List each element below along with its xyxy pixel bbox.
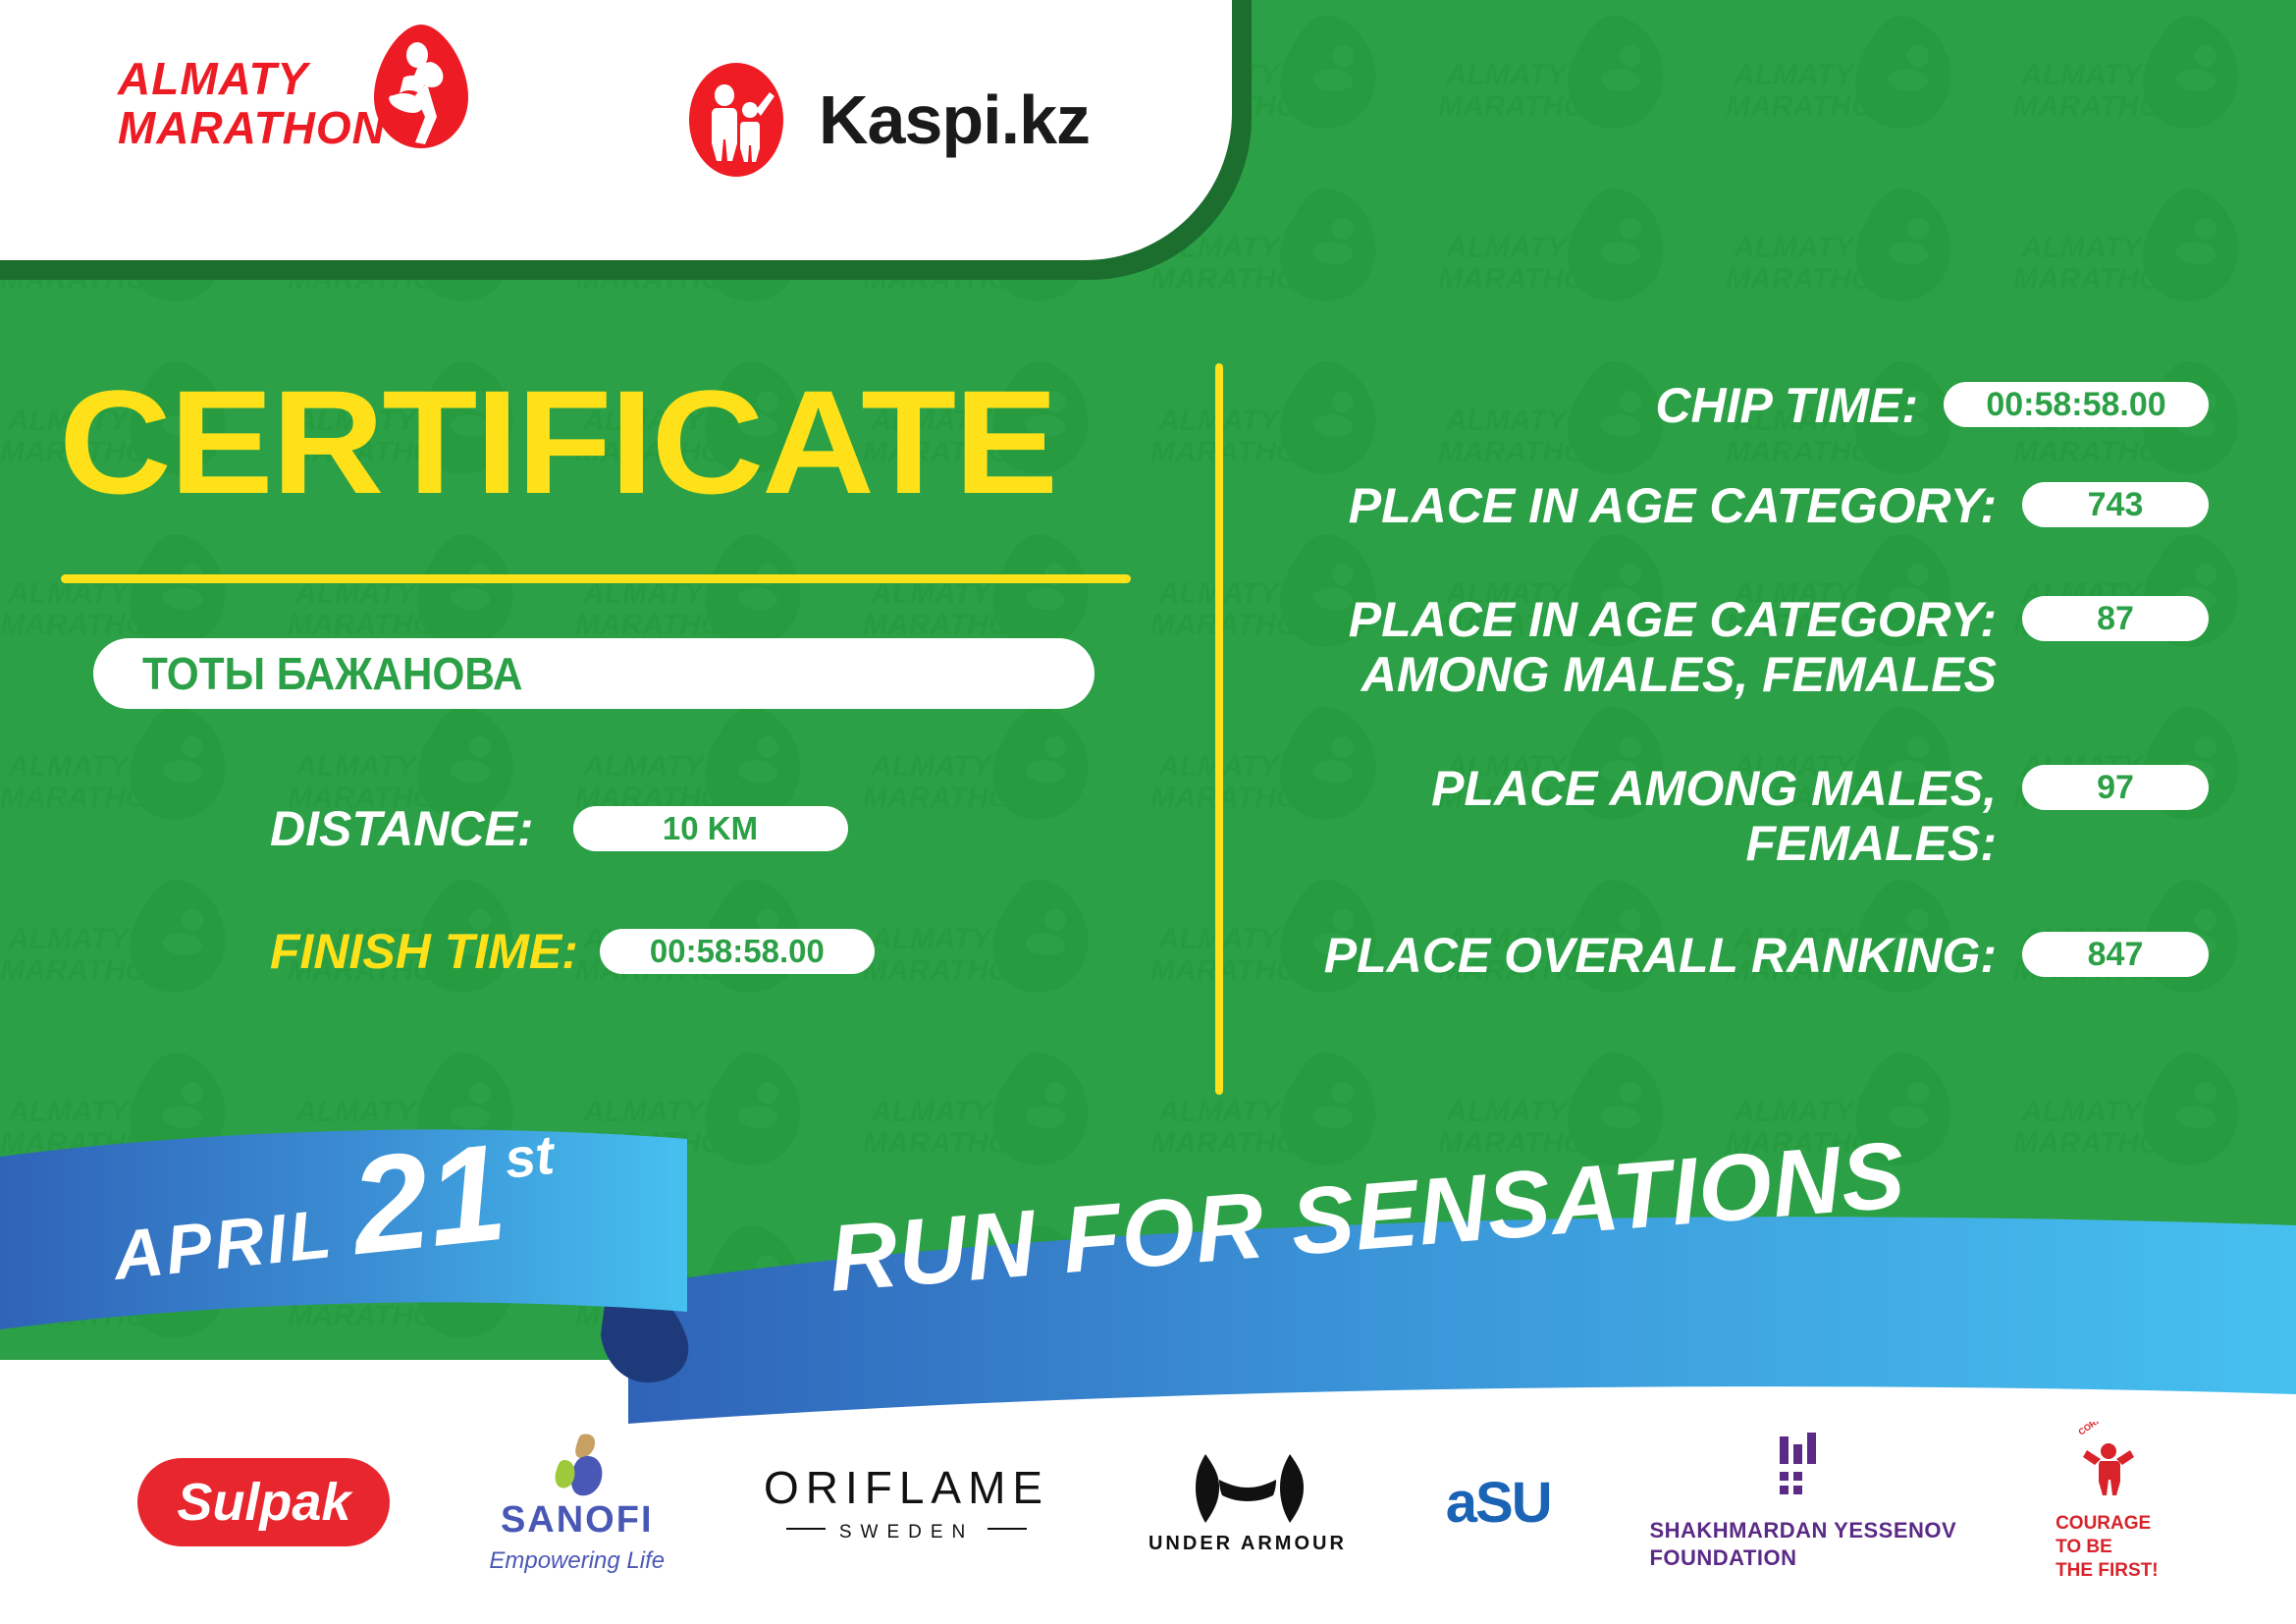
distance-value: 10 KM	[573, 806, 848, 851]
page-title: CERTIFICATE	[59, 368, 1056, 515]
finish-time-label: FINISH TIME:	[270, 923, 578, 980]
sponsor-asu: aSU	[1446, 1470, 1551, 1536]
sponsor-oriflame: ORIFLAME SWEDEN	[764, 1461, 1049, 1543]
distance-row: DISTANCE: 10 KM	[270, 800, 848, 857]
participant-name-field: ТОТЫ БАЖАНОВА	[93, 638, 1095, 709]
event-day-suffix: st	[502, 1122, 557, 1191]
stat-label: PLACE IN AGE CATEGORY:	[1266, 478, 1997, 533]
results-stats-list: CHIP TIME: 00:58:58.00 PLACE IN AGE CATE…	[1266, 378, 2209, 1028]
kaspi-logo: Kaspi.kz	[677, 61, 1090, 179]
oriflame-sub-text: SWEDEN	[839, 1522, 974, 1543]
stat-label: PLACE OVERALL RANKING:	[1266, 928, 1997, 983]
stat-value: 00:58:58.00	[1944, 382, 2209, 427]
svg-text:CORPORATE FUND: CORPORATE FUND	[2077, 1422, 2139, 1437]
stat-value: 743	[2022, 482, 2209, 527]
sanofi-logo-text: SANOFI	[501, 1499, 654, 1542]
almaty-logo-line1: ALMATY	[118, 54, 386, 103]
almaty-marathon-logo: ALMATY MARATHON	[118, 54, 473, 152]
sponsor-sanofi: SANOFI Empowering Life	[489, 1431, 665, 1575]
stat-value: 97	[2022, 765, 2209, 810]
sanofi-mark-icon	[539, 1431, 615, 1499]
kaspi-people-icon	[677, 61, 795, 179]
oriflame-logo-text: ORIFLAME	[764, 1461, 1049, 1514]
stat-row-place-age-category-gender: PLACE IN AGE CATEGORY: AMONG MALES, FEMA…	[1266, 592, 2209, 702]
participant-name-value: ТОТЫ БАЖАНОВА	[142, 647, 522, 700]
sponsor-shakhmardan-yessenov: SHAKHMARDAN YESSENOV FOUNDATION	[1649, 1433, 1956, 1572]
under-armour-logo-text: UNDER ARMOUR	[1148, 1533, 1347, 1555]
oriflame-rule-right	[988, 1528, 1027, 1530]
courage-line2: TO BE	[2056, 1536, 2159, 1559]
almaty-logo-line2: MARATHON	[118, 103, 386, 152]
yessenov-line1: SHAKHMARDAN YESSENOV	[1649, 1517, 1956, 1544]
under-armour-mark-icon	[1184, 1450, 1311, 1527]
event-day: 21	[346, 1129, 510, 1271]
stat-label: PLACE AMONG MALES, FEMALES:	[1266, 761, 1997, 871]
title-underline	[61, 574, 1131, 583]
stat-value: 847	[2022, 932, 2209, 977]
stat-row-place-age-category: PLACE IN AGE CATEGORY: 743	[1266, 478, 2209, 533]
stat-label: PLACE IN AGE CATEGORY: AMONG MALES, FEMA…	[1266, 592, 1997, 702]
sponsor-sulpak: Sulpak	[137, 1458, 390, 1546]
stat-row-place-overall: PLACE OVERALL RANKING: 847	[1266, 928, 2209, 983]
courage-line3: THE FIRST!	[2056, 1559, 2159, 1583]
yessenov-line2: FOUNDATION	[1649, 1544, 1956, 1572]
oriflame-rule-left	[786, 1528, 826, 1530]
stat-value: 87	[2022, 596, 2209, 641]
kaspi-logo-text: Kaspi.kz	[819, 81, 1090, 159]
sponsor-courage-to-be-first: CORPORATE FUND COURAGE TO BE THE FIRST!	[2056, 1422, 2159, 1583]
runner-drop-icon	[370, 23, 473, 150]
stat-row-chip-time: CHIP TIME: 00:58:58.00	[1266, 378, 2209, 433]
finish-time-value: 00:58:58.00	[600, 929, 875, 974]
stat-label: CHIP TIME:	[1266, 378, 1918, 433]
distance-label: DISTANCE:	[270, 800, 534, 857]
yessenov-bars-icon	[1776, 1433, 1831, 1503]
courage-runner-icon: CORPORATE FUND	[2075, 1422, 2138, 1498]
asu-logo-text: aSU	[1446, 1470, 1551, 1536]
certificate-page: ALMATY MARATHON ALMATY MARATHON	[0, 0, 2296, 1624]
column-divider	[1215, 363, 1223, 1095]
sponsor-logos: Sulpak SANOFI Empowering Life ORIFLAME S…	[0, 1414, 2296, 1591]
finish-time-row: FINISH TIME: 00:58:58.00	[270, 923, 875, 980]
courage-line1: COURAGE	[2056, 1512, 2159, 1536]
sulpak-logo-text: Sulpak	[137, 1458, 390, 1546]
oriflame-sub-row: SWEDEN	[786, 1514, 1027, 1543]
sponsor-under-armour: UNDER ARMOUR	[1148, 1450, 1347, 1555]
stat-row-place-among-gender: PLACE AMONG MALES, FEMALES: 97	[1266, 761, 2209, 871]
sanofi-tagline: Empowering Life	[489, 1547, 665, 1575]
